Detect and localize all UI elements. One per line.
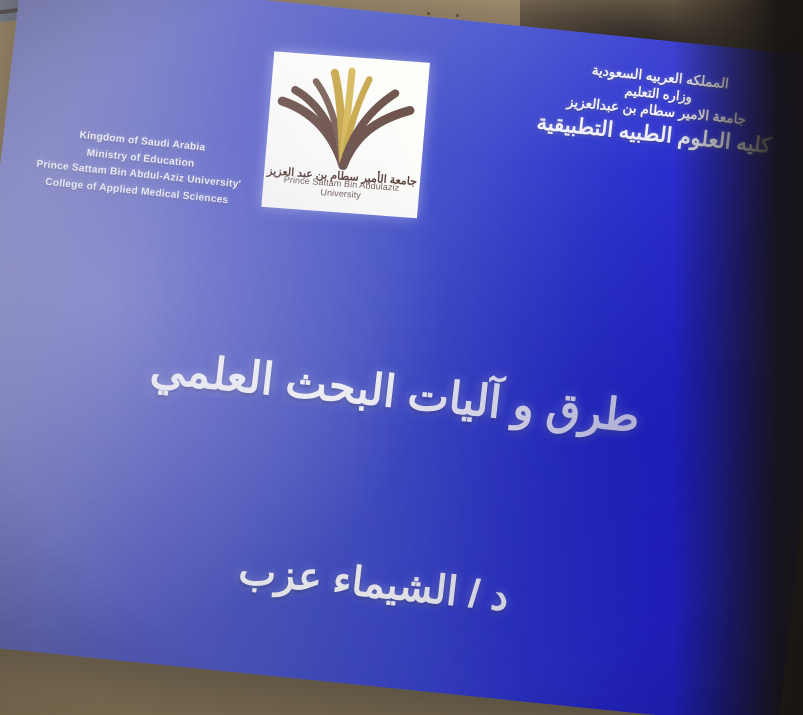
wall-speck [456,14,459,17]
wall-speck [427,12,430,15]
university-logo-fan-icon [265,56,430,175]
university-logo: جامعة الأمير سطام بن عبد العزيز Prince S… [261,51,430,218]
photo-scene: المملكه العربيه السعودية وزاره التعليم ج… [0,0,803,715]
right-wall-shadow [673,0,803,715]
